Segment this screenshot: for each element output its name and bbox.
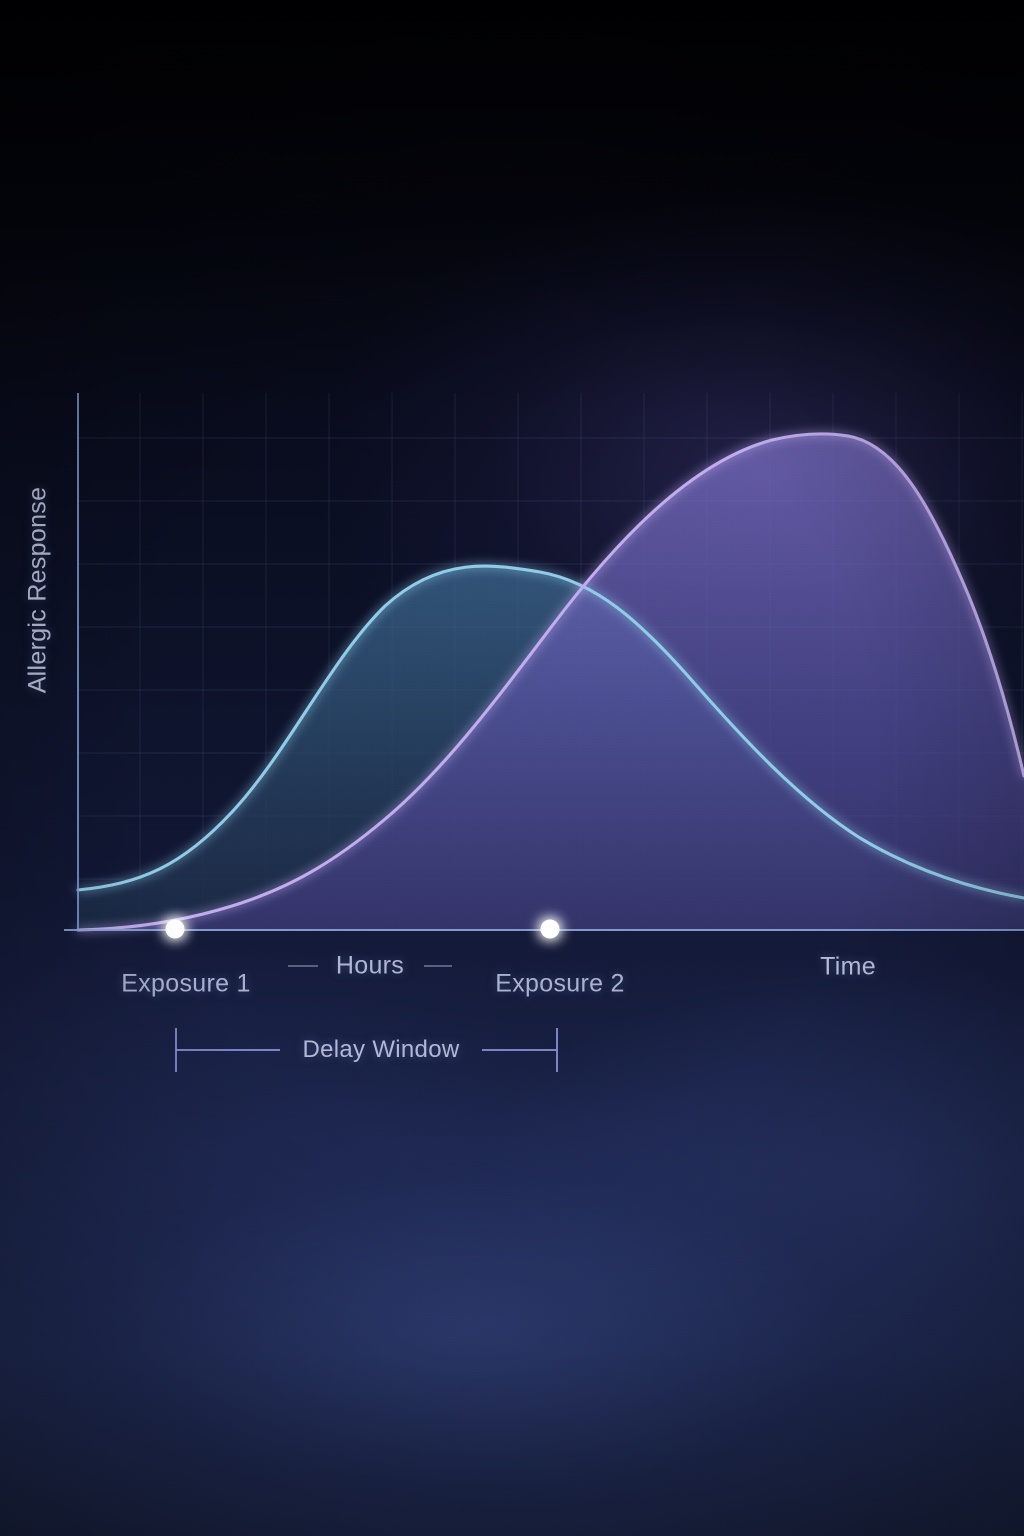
delay-window-label: Delay Window — [303, 1036, 460, 1064]
marker-exposure-1[interactable] — [166, 920, 185, 939]
exposure-1-label: Exposure 1 — [121, 970, 250, 999]
exposure-2-label: Exposure 2 — [495, 970, 624, 999]
x-axis-hours-label: Hours — [336, 952, 404, 981]
allergic-response-dual-exposure-chart — [0, 0, 1024, 1536]
y-axis-title: Allergic Response — [24, 487, 53, 694]
marker-exposure-2[interactable] — [541, 920, 560, 939]
x-axis-title: Time — [820, 953, 876, 982]
chart-canvas: Allergic Response Hours Time Exposure 1 … — [0, 0, 1024, 1536]
